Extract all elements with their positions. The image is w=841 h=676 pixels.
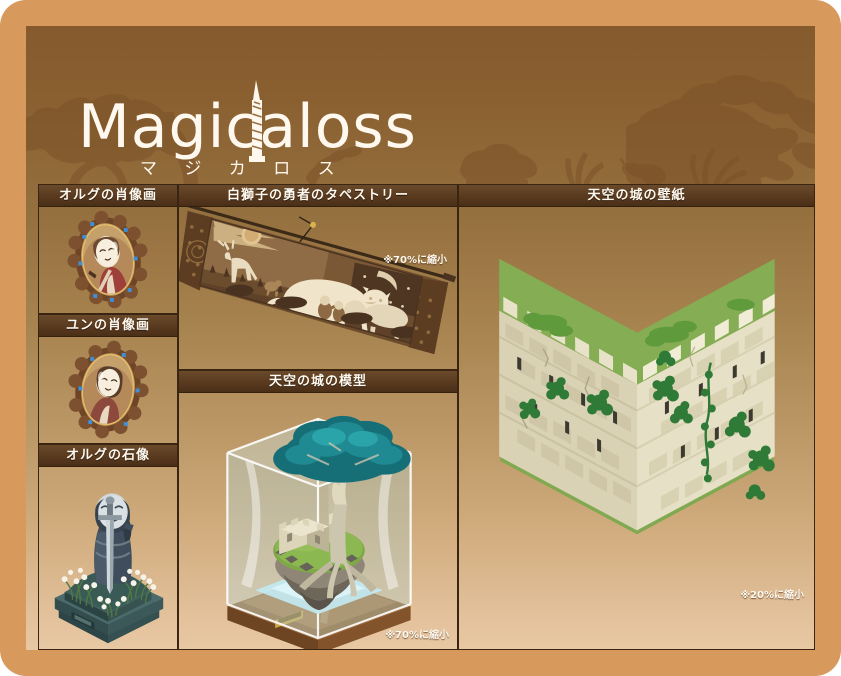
castle-wallpaper-scale-note: ※20%に縮小 [740, 586, 804, 601]
panel-body-org-statue [39, 467, 177, 649]
panel-tapestry[interactable]: 白獅子の勇者のタペストリー [178, 184, 458, 370]
panel-title-org-statue: オルグの石像 [39, 445, 177, 467]
castle-wallpaper-artwork [459, 207, 814, 649]
panel-title-castle-wallpaper: 天空の城の壁紙 [459, 185, 814, 207]
panel-title-castle-model: 天空の城の模型 [179, 371, 457, 393]
panel-body-tapestry: ※70%に縮小 [179, 207, 457, 369]
panel-castle-wallpaper[interactable]: 天空の城の壁紙 [458, 184, 815, 650]
panel-body-yun-portrait [39, 337, 177, 443]
panel-castle-model[interactable]: 天空の城の模型 [178, 370, 458, 650]
tapestry-scale-note: ※70%に縮小 [383, 251, 447, 266]
org-statue-artwork [39, 467, 177, 649]
panel-yun-portrait[interactable]: ユンの肖像画 [38, 314, 178, 444]
panel-body-castle-model: ※70%に縮小 [179, 393, 457, 649]
castle-model-scale-note: ※70%に縮小 [385, 626, 449, 641]
panel-body-castle-wallpaper: ※20%に縮小 [459, 207, 814, 649]
header-silhouette-bushes [456, 126, 756, 188]
panel-title-tapestry: 白獅子の勇者のタペストリー [179, 185, 457, 207]
castle-model-artwork [179, 393, 457, 649]
logo: Magicaloss マ ジ カ ロ ス [78, 78, 378, 188]
panel-org-portrait[interactable]: オルグの肖像画 [38, 184, 178, 314]
poster-frame: Magicaloss マ ジ カ ロ ス [0, 0, 841, 676]
poster-inner: Magicaloss マ ジ カ ロ ス [26, 26, 815, 650]
panel-title-org-portrait: オルグの肖像画 [39, 185, 177, 207]
panel-title-yun-portrait: ユンの肖像画 [39, 315, 177, 337]
panel-org-statue[interactable]: オルグの石像 [38, 444, 178, 650]
tapestry-artwork [179, 207, 457, 369]
org-portrait-artwork [39, 207, 177, 313]
panel-body-org-portrait [39, 207, 177, 313]
header-silhouette-right [626, 52, 815, 188]
logo-kana: マ ジ カ ロ ス [140, 154, 346, 179]
yun-portrait-artwork [39, 337, 177, 443]
